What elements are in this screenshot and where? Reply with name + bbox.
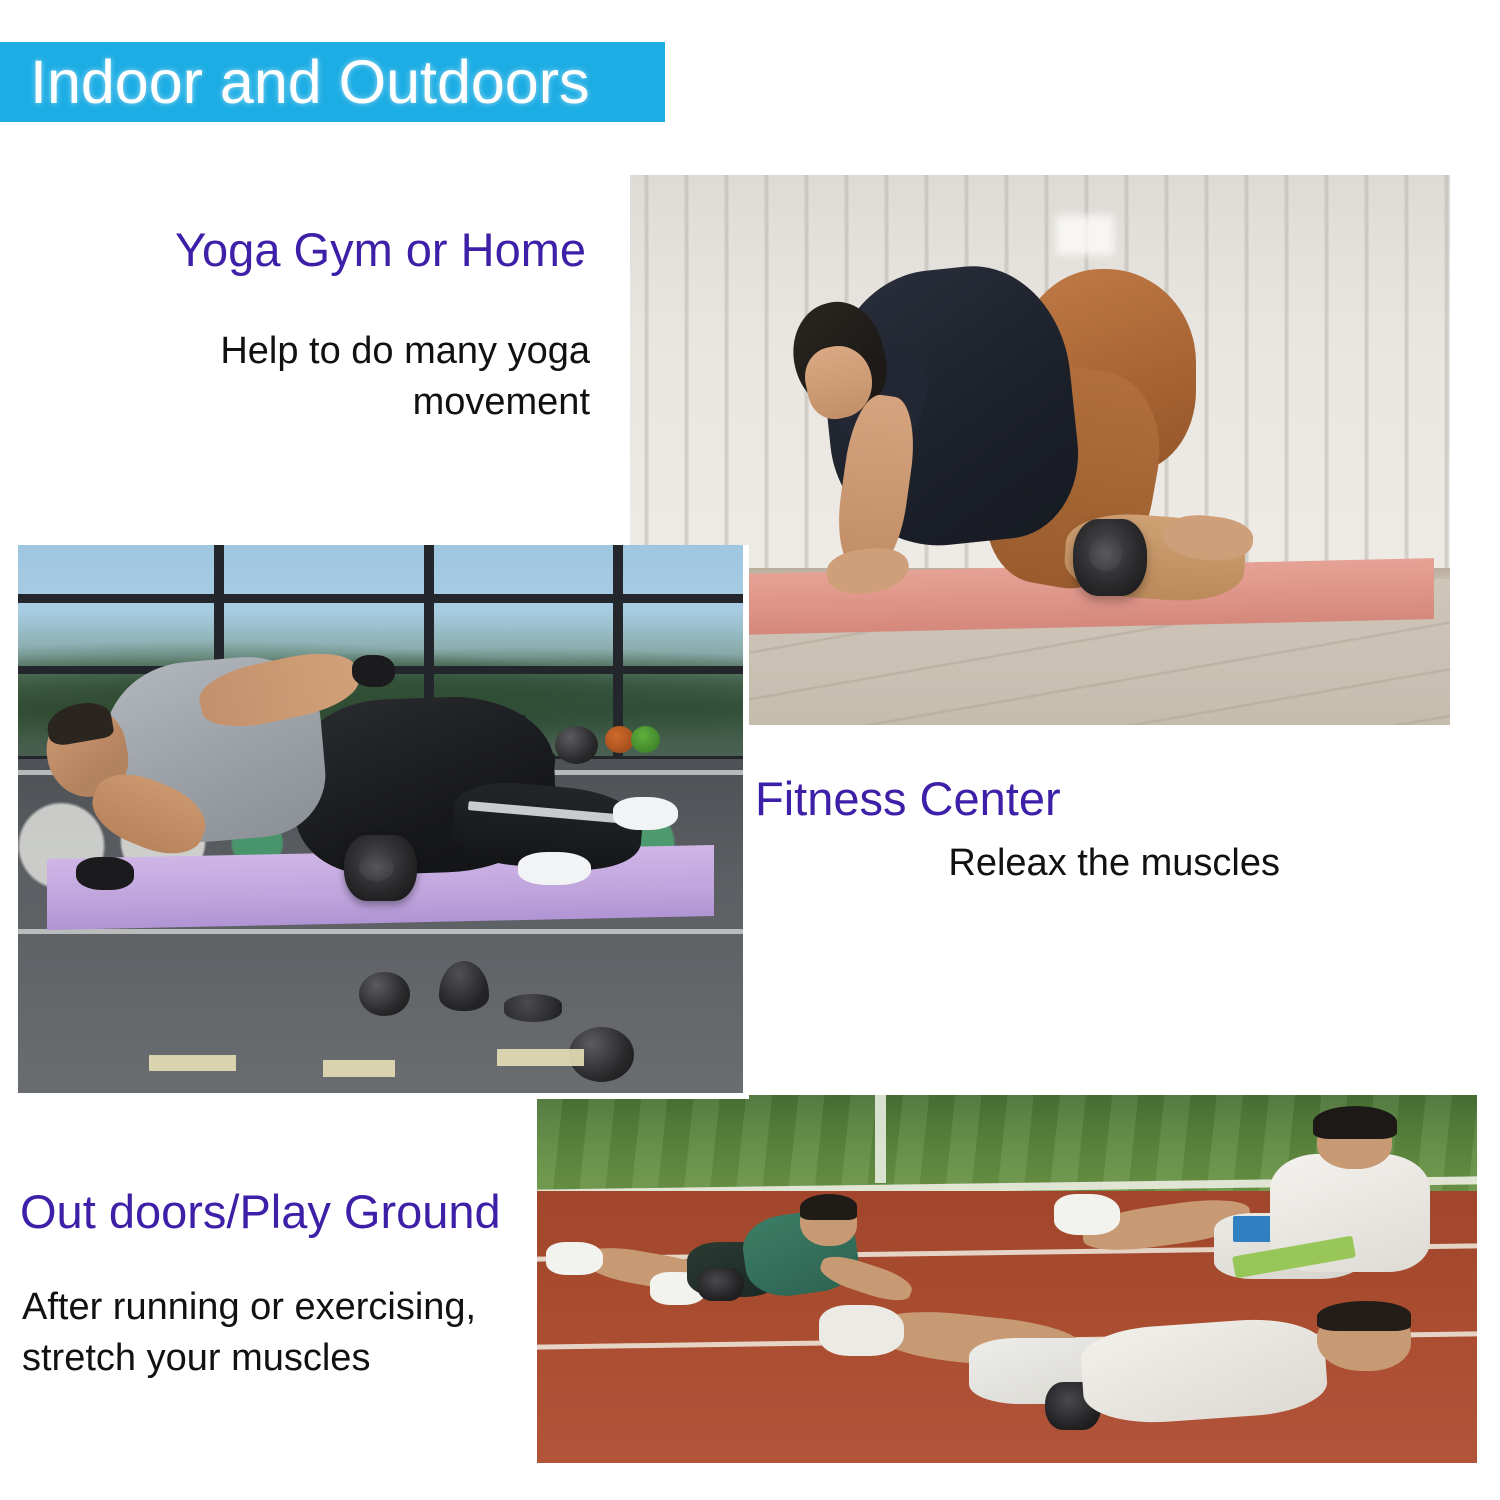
photo-yoga-gym-or-home	[630, 175, 1450, 725]
section-body-fitness: Releax the muscles	[760, 838, 1280, 889]
goal-post	[875, 1095, 885, 1183]
photo-fitness-center	[18, 545, 749, 1099]
massage-ball	[359, 972, 410, 1016]
product-feature-image: Indoor and Outdoors	[0, 0, 1500, 1500]
foam-roller-product	[697, 1268, 744, 1301]
workout-glove	[352, 655, 396, 688]
runner1-shoe	[546, 1242, 602, 1275]
white-sock	[613, 797, 678, 830]
runner3-shoe	[1054, 1194, 1120, 1234]
photo-outdoors-play-ground	[537, 1095, 1477, 1463]
foam-roller-product	[344, 835, 417, 901]
spiky-massage-disc	[504, 994, 562, 1021]
floor-tape	[497, 1049, 584, 1065]
section-title-yoga: Yoga Gym or Home	[175, 224, 586, 276]
weight-plate	[631, 726, 660, 753]
floor-tape	[323, 1060, 396, 1076]
track-scene	[537, 1095, 1477, 1463]
workout-glove	[76, 857, 134, 890]
floor-tape	[149, 1055, 236, 1071]
header-banner: Indoor and Outdoors	[0, 42, 665, 122]
section-title-fitness: Fitness Center	[755, 773, 1061, 825]
banner-title: Indoor and Outdoors	[0, 52, 590, 113]
medicine-ball	[555, 726, 599, 764]
window-transom	[18, 594, 743, 602]
foam-roller-product	[1073, 519, 1147, 596]
section-title-outdoors: Out doors/Play Ground	[20, 1186, 501, 1238]
floor-line	[18, 929, 743, 934]
section-body-yoga: Help to do many yoga movement	[170, 326, 590, 428]
gym-scene	[18, 545, 743, 1093]
runner3-hair	[1313, 1106, 1398, 1139]
runner2-hair	[1317, 1301, 1411, 1330]
white-sock	[518, 852, 591, 885]
section-body-outdoors: After running or exercising, stretch you…	[22, 1282, 542, 1384]
runner1-hair	[800, 1194, 856, 1220]
yoga-scene	[630, 175, 1450, 725]
runner2-shoe	[819, 1305, 904, 1357]
